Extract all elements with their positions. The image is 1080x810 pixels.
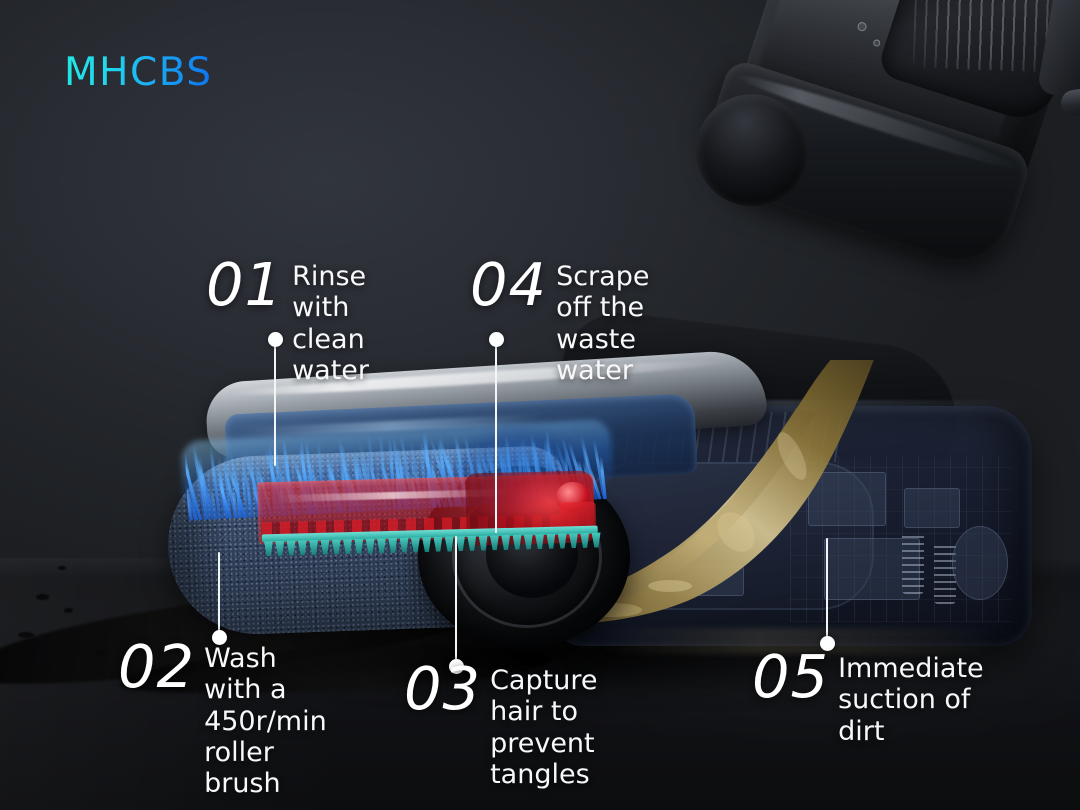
comb-tooth <box>479 535 488 550</box>
comb-tooth <box>264 541 273 556</box>
comb-tooth <box>433 537 442 552</box>
comb-tooth <box>332 539 341 554</box>
callout-label: 04Scrape off the waste water <box>470 258 649 386</box>
callout-text: Capture hair to prevent tangles <box>490 662 597 790</box>
callout-number: 05 <box>752 650 829 704</box>
brand-logo: MHCBS <box>64 50 213 95</box>
comb-tooth <box>569 533 578 548</box>
callout-text: Rinse with clean water <box>292 258 369 386</box>
comb-tooth <box>366 538 375 553</box>
comb-tooth <box>524 534 533 549</box>
comb-tooth <box>422 537 431 552</box>
comb-tooth <box>354 539 363 554</box>
comb-tooth <box>546 534 555 549</box>
callout-number: 04 <box>470 258 547 312</box>
internal-fan <box>952 526 1008 600</box>
water-tank-unit <box>669 0 1080 339</box>
callout-leader-line <box>218 552 220 632</box>
callout-text: Wash with a 450r/min roller brush <box>204 640 327 800</box>
comb-tooth <box>377 538 386 553</box>
callout-label: 03Capture hair to prevent tangles <box>404 662 597 790</box>
comb-tooth <box>343 539 352 554</box>
callout-number: 03 <box>404 662 481 716</box>
callout-leader-line <box>826 538 828 638</box>
comb-tooth <box>411 537 420 552</box>
comb-tooth <box>275 541 284 556</box>
callout-label: 05Immediate suction of dirt <box>752 650 984 747</box>
comb-tooth <box>456 536 465 551</box>
comb-tooth <box>558 533 567 548</box>
comb-tooth <box>399 538 408 553</box>
callout-label: 01Rinse with clean water <box>206 258 369 386</box>
callout-number: 02 <box>118 640 195 694</box>
callout-text: Scrape off the waste water <box>556 258 649 386</box>
comb-tooth <box>298 540 307 555</box>
comb-tooth <box>445 536 454 551</box>
comb-tooth <box>535 534 544 549</box>
comb-tooth <box>501 535 510 550</box>
comb-tooth <box>287 541 296 556</box>
comb-tooth <box>490 535 499 550</box>
comb-tooth <box>320 540 329 555</box>
infographic-canvas: MHCBS 01Rinse with clean water04Scrape o… <box>0 0 1080 810</box>
callout-number: 01 <box>206 258 283 312</box>
comb-tooth <box>467 536 476 551</box>
comb-tooth <box>512 535 521 550</box>
comb-tooth <box>388 538 397 553</box>
callout-leader-line <box>455 536 457 661</box>
comb-tooth <box>309 540 318 555</box>
comb-tooth <box>580 533 589 548</box>
callout-label: 02Wash with a 450r/min roller brush <box>118 640 327 800</box>
callout-text: Immediate suction of dirt <box>838 650 984 747</box>
